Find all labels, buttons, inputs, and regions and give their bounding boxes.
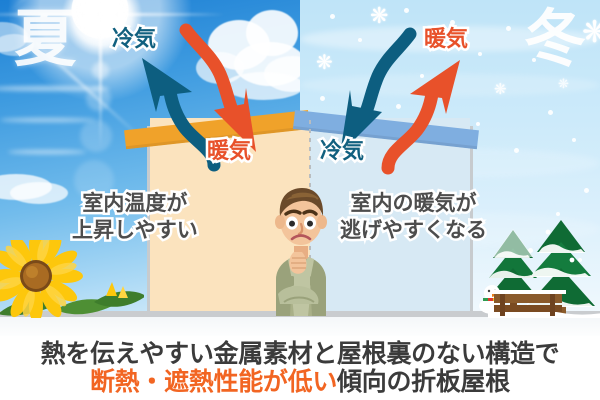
air-label-winter-outside: 暖気: [424, 29, 468, 51]
air-label-summer-outside: 冷気: [112, 29, 156, 51]
room-text-summer: 室内温度が 上昇しやすい: [72, 190, 198, 244]
room-text-winter: 室内の暖気が 逃げやすくなる: [340, 190, 487, 244]
room-text-summer-line2: 上昇しやすい: [72, 217, 198, 244]
room-text-summer-line1: 室内温度が: [72, 190, 198, 217]
caption-block: 熱を伝えやすい金属素材と屋根裏のない構造で 断熱・遮熱性能が低い傾向の折板屋根: [0, 336, 600, 400]
caption-line-2: 断熱・遮熱性能が低い傾向の折板屋根: [90, 368, 510, 396]
room-text-winter-line2: 逃げやすくなる: [340, 217, 487, 244]
air-label-summer-inside: 暖気: [207, 141, 251, 163]
room-text-winter-line1: 室内の暖気が: [340, 190, 487, 217]
arrow-up-cool-icon: [142, 58, 214, 165]
arrow-down-cool-icon: [340, 34, 410, 154]
arrow-up-warm-icon: [388, 60, 460, 168]
air-label-winter-inside: 冷気: [320, 141, 364, 163]
caption-highlight: 断熱・遮熱性能が低い: [90, 367, 337, 396]
illustration-canvas: ❋ ❋ ❋ ❋ ❋ 夏 冬: [0, 0, 600, 400]
caption-line-2-rest: 傾向の折板屋根: [337, 367, 510, 396]
worried-worker-icon: [258, 176, 344, 316]
caption-line-1: 熱を伝えやすい金属素材と屋根裏のない構造で: [41, 340, 560, 368]
